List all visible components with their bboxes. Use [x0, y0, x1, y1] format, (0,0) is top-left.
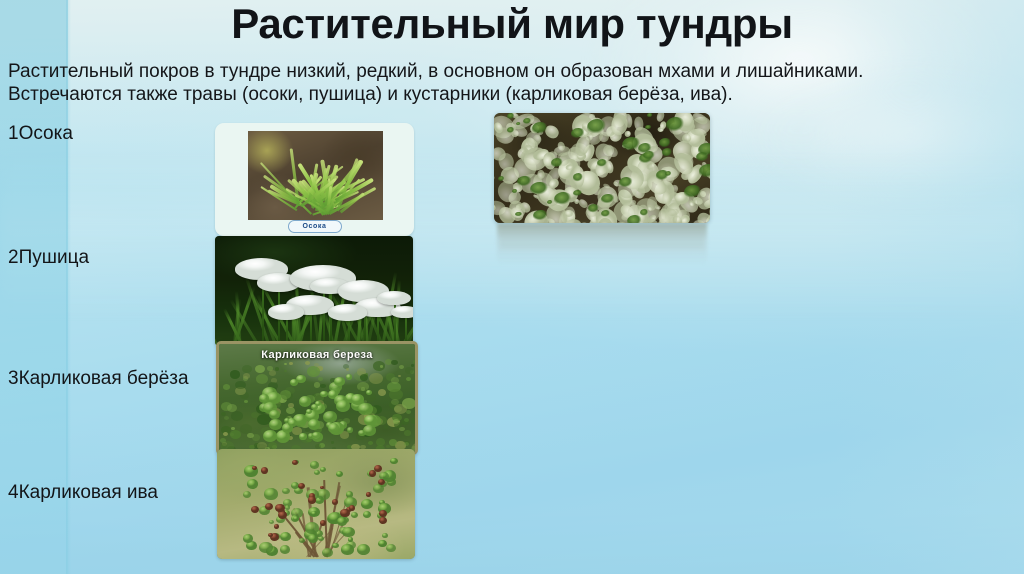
moss-texture-dot — [268, 442, 277, 449]
dwarf-willow-catkin — [320, 520, 327, 526]
lichen-green-moss — [515, 212, 522, 218]
dwarf-willow-leaf — [247, 479, 258, 489]
intro-paragraph-line-1: Растительный покров в тундре низкий, ред… — [8, 60, 1018, 83]
sedge-foliage-layer — [248, 131, 383, 220]
lichen-green-moss — [640, 209, 649, 216]
lichen-green-moss — [571, 128, 586, 140]
dwarf-willow-catkin — [274, 524, 279, 528]
dwarf-willow-leaf — [336, 471, 343, 477]
dwarf-willow-leaf — [299, 538, 305, 543]
moss-texture-dot — [411, 418, 418, 423]
moss-texture-dot — [256, 374, 268, 384]
dwarf-birch-leaf — [366, 390, 372, 395]
lichen-green-moss — [643, 151, 656, 161]
dwarf-willow-leaf — [308, 534, 318, 543]
dwarf-birch-leaf — [363, 425, 376, 436]
dwarf-willow-catkin — [332, 499, 338, 505]
dwarf-willow-catkin — [251, 506, 259, 513]
dwarf-willow-leaf — [337, 517, 347, 526]
sedge-photo — [248, 131, 383, 220]
dwarf-willow-leaf — [293, 516, 299, 521]
dwarf-willow-leaf — [332, 543, 339, 549]
moss-texture-dot — [305, 361, 310, 365]
lichen-photo-reflection-detail — [500, 224, 704, 250]
moss-texture-dot — [275, 367, 279, 370]
moss-texture-dot — [368, 441, 373, 445]
lichen-green-moss — [551, 158, 564, 169]
slide-canvas: Растительный мир тундры Растительный пок… — [0, 0, 1024, 574]
dwarf-willow-catkin — [366, 492, 371, 496]
list-item-dwarf-birch: 3Карликовая берёза — [8, 368, 189, 390]
dwarf-willow-leaf — [264, 488, 278, 500]
cottongrass-tuft — [391, 306, 413, 318]
dwarf-willow-catkin — [265, 503, 273, 510]
dwarf-willow-leaf — [382, 533, 388, 538]
dwarf-willow-leaf — [243, 534, 253, 543]
dwarf-birch-overlay-title: Карликовая береза — [219, 349, 415, 361]
dwarf-willow-leaf — [285, 505, 290, 510]
dwarf-willow-leaf — [317, 489, 330, 500]
moss-texture-dot — [307, 366, 320, 377]
dwarf-willow-photo — [217, 449, 415, 559]
dwarf-willow-leaf — [361, 499, 373, 509]
sedge-caption: Осока — [287, 220, 341, 233]
lichen-green-moss — [627, 215, 644, 223]
dwarf-willow-leaf — [342, 527, 354, 537]
dwarf-willow-leaf — [390, 458, 397, 464]
lichen-green-moss — [684, 185, 702, 200]
dwarf-birch-leaf — [358, 403, 372, 415]
lichen-clump — [625, 131, 631, 137]
dwarf-willow-leaf — [310, 461, 320, 469]
dwarf-willow-catkin — [340, 509, 350, 518]
dwarf-willow-leaf — [280, 545, 290, 554]
lichen-green-moss — [573, 173, 585, 182]
lichen-green-moss — [597, 159, 608, 168]
moss-texture-dot — [346, 368, 350, 371]
dwarf-birch-leaf — [346, 374, 352, 379]
moss-texture-dot — [280, 390, 291, 399]
dwarf-willow-catkin — [349, 505, 356, 511]
moss-texture-dot — [402, 398, 416, 409]
lichen-green-moss — [698, 143, 710, 158]
dwarf-birch-leaf — [328, 423, 339, 432]
list-item-cottongrass: 2Пушица — [8, 247, 89, 269]
moss-texture-dot — [361, 387, 365, 391]
moss-texture-dot — [247, 433, 254, 438]
dwarf-willow-catkin — [275, 504, 284, 512]
intro-paragraph: Растительный покров в тундре низкий, ред… — [8, 60, 1018, 106]
moss-texture-dot — [269, 370, 276, 376]
intro-paragraph-line-2: Встречаются также травы (осоки, пушица) … — [8, 83, 1018, 106]
sedge-photo-card: Осока — [215, 123, 414, 236]
cottongrass-tuft — [377, 291, 411, 305]
cottongrass-photo — [215, 236, 413, 346]
moss-texture-dot — [399, 365, 404, 369]
dwarf-willow-leaf — [373, 484, 384, 493]
moss-texture-dot — [230, 370, 240, 378]
dwarf-birch-photo: Карликовая береза — [216, 341, 418, 455]
lichen-green-moss — [516, 122, 521, 126]
dwarf-willow-leaf — [386, 544, 396, 552]
dwarf-birch-leaf — [334, 377, 345, 386]
dwarf-willow-catkin — [308, 496, 316, 503]
dwarf-birch-leaf — [290, 379, 298, 386]
moss-texture-dot — [391, 377, 399, 384]
dwarf-birch-leaf — [259, 394, 269, 402]
moss-texture-dot — [288, 403, 294, 407]
cottongrass-tuft — [328, 304, 368, 321]
dwarf-birch-leaf — [299, 433, 306, 439]
moss-texture-dot — [369, 373, 383, 384]
dwarf-willow-leaf — [341, 544, 353, 554]
lichen-green-moss — [507, 127, 515, 134]
dwarf-willow-leaf — [282, 488, 289, 494]
dwarf-willow-leaf — [322, 548, 333, 557]
lichen-green-moss — [588, 204, 600, 213]
moss-texture-dot — [242, 365, 252, 373]
moss-texture-dot — [331, 441, 335, 444]
dwarf-willow-leaf — [311, 511, 316, 516]
dwarf-willow-catkin — [278, 511, 287, 519]
moss-texture-dot — [230, 430, 242, 439]
dwarf-birch-leaf — [296, 375, 306, 383]
lichen-green-moss — [647, 113, 653, 117]
dwarf-willow-leaf — [348, 537, 354, 542]
lichen-green-moss — [622, 137, 642, 153]
dwarf-willow-catkin — [369, 470, 376, 476]
dwarf-birch-leaf — [263, 430, 277, 442]
page-title: Растительный мир тундры — [0, 0, 1024, 48]
moss-texture-dot — [231, 411, 243, 421]
list-item-sedge: 1Осока — [8, 123, 73, 145]
moss-texture-dot — [223, 384, 230, 390]
lichen-green-moss — [530, 182, 550, 198]
lichen-green-moss — [699, 164, 710, 179]
lichen-green-moss — [662, 148, 674, 157]
dwarf-birch-leaf — [312, 432, 320, 439]
list-item-dwarf-willow: 4Карликовая ива — [8, 482, 158, 504]
lichen-green-moss — [601, 210, 611, 218]
moss-texture-dot — [404, 430, 411, 435]
cottongrass-tuft — [268, 304, 304, 319]
lichen-photo — [494, 113, 710, 223]
moss-texture-dot — [360, 374, 368, 380]
dwarf-willow-leaf — [305, 522, 319, 534]
moss-texture-dot — [286, 407, 295, 414]
dwarf-willow-leaf — [280, 532, 291, 541]
lichen-green-moss — [507, 113, 515, 119]
dwarf-willow-catkin — [298, 483, 305, 489]
moss-texture-dot — [404, 442, 409, 446]
lichen-green-moss — [554, 192, 573, 207]
lichen-green-moss — [532, 122, 549, 136]
lichen-green-moss — [533, 210, 549, 223]
moss-texture-dot — [411, 364, 414, 367]
moss-texture-dot — [405, 367, 413, 374]
moss-texture-dot — [314, 382, 320, 387]
dwarf-willow-catkin — [292, 460, 298, 465]
dwarf-willow-catkin — [261, 467, 269, 474]
moss-texture-dot — [224, 416, 229, 420]
dwarf-birch-leaf — [269, 410, 279, 419]
lichen-green-moss — [512, 189, 518, 194]
moss-texture-dot — [415, 413, 418, 423]
lichen-green-moss — [666, 117, 687, 134]
